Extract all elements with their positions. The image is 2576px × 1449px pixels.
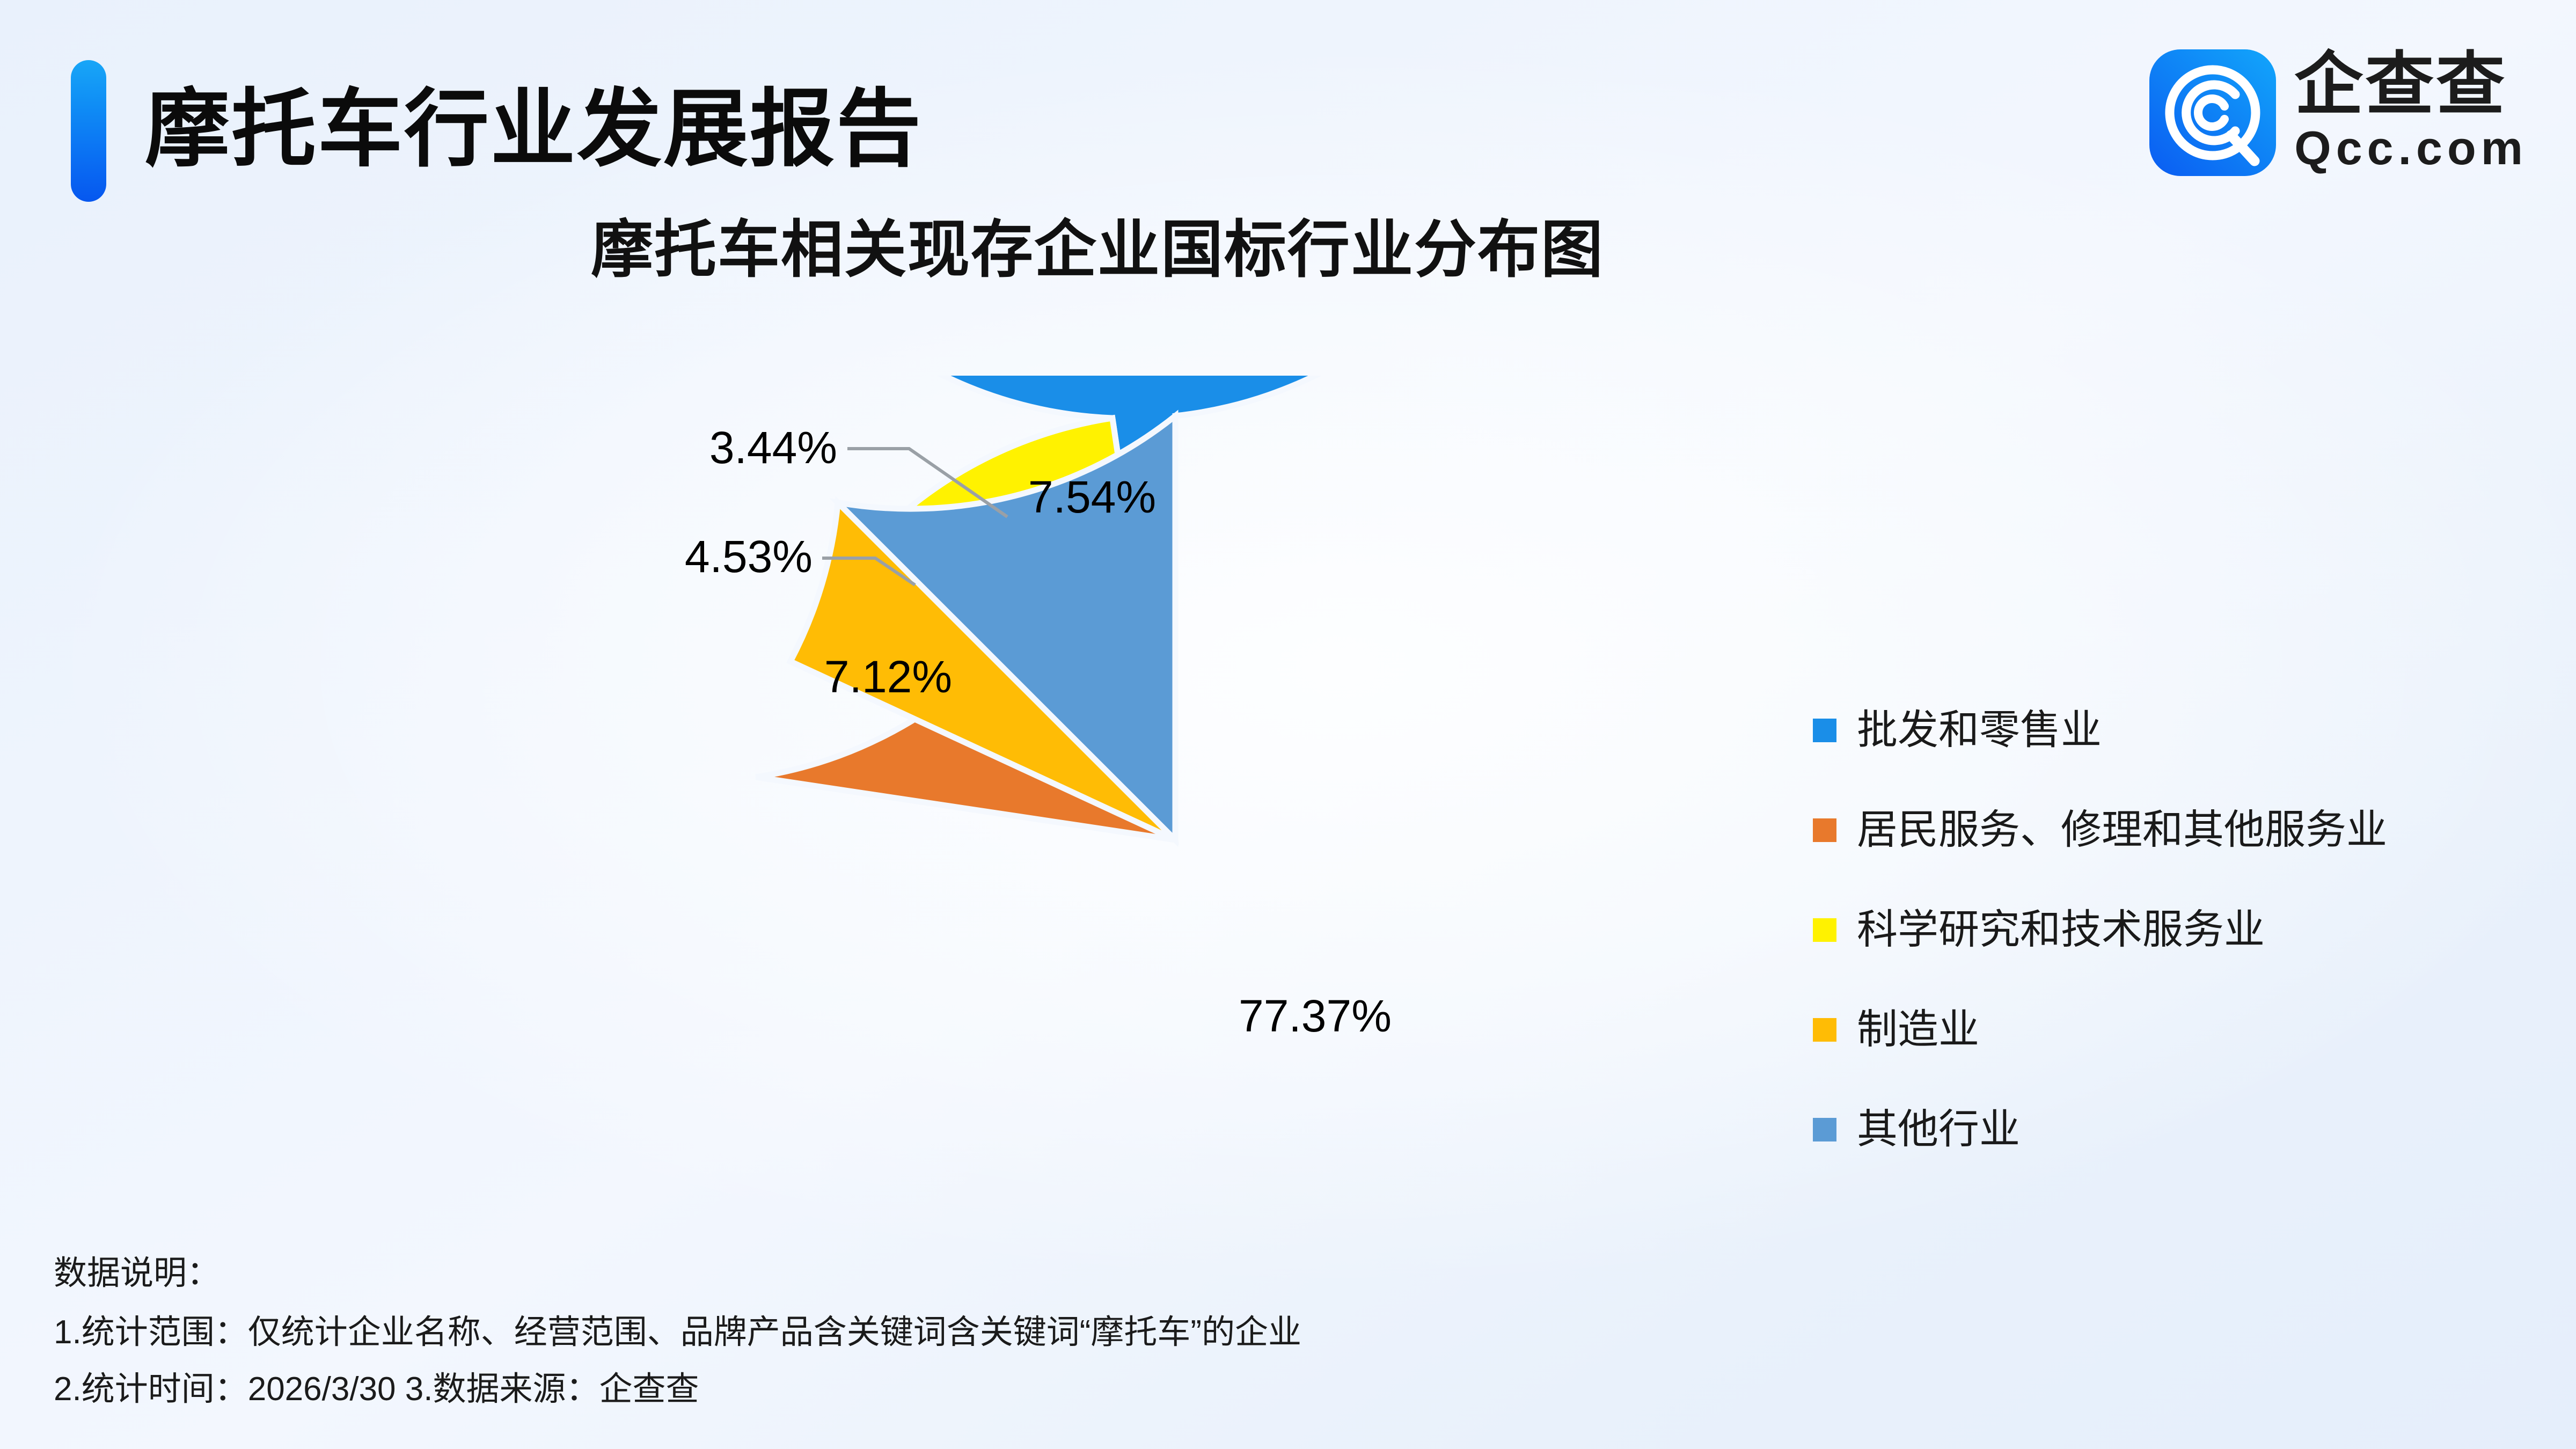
qcc-target-q-icon xyxy=(2149,49,2276,176)
brand-wordmark: 企查查 Qcc.com xyxy=(2294,49,2528,176)
legend-item-wholesale[interactable]: 批发和零售业 xyxy=(1813,680,2532,780)
legend-item-other[interactable]: 其他行业 xyxy=(1813,1080,2532,1180)
title-accent-bar xyxy=(71,60,106,202)
footnote-heading: 数据说明： xyxy=(54,1245,1986,1302)
legend-item-label: 制造业 xyxy=(1857,1005,1979,1055)
footnote-scope: 1.统计范围：仅统计企业名称、经营范围、品牌产品含关键词含关键词“摩托车”的企业 xyxy=(54,1304,1986,1361)
legend-swatch-icon xyxy=(1813,918,1836,942)
footnote-time-source: 2.统计时间：2026/3/30 3.数据来源：企查查 xyxy=(54,1361,1986,1418)
pie-callout-science-research: 4.53% xyxy=(685,531,813,582)
chart-title: 摩托车相关现存企业国标行业分布图 xyxy=(0,209,2576,290)
page-title: 摩托车行业发展报告 xyxy=(145,59,923,200)
legend-item-manufacturing[interactable]: 制造业 xyxy=(1813,980,2532,1080)
legend-item-label: 居民服务、修理和其他服务业 xyxy=(1857,806,2387,855)
pie-label-other: 7.54% xyxy=(1028,472,1156,522)
brand-logo: 企查查 Qcc.com xyxy=(2149,49,2528,176)
chart-legend: 批发和零售业 居民服务、修理和其他服务业 科学研究和技术服务业 制造业 其他行业 xyxy=(1813,680,2532,1180)
legend-item-science-research[interactable]: 科学研究和技术服务业 xyxy=(1813,880,2532,980)
pie-label-resident-services: 7.12% xyxy=(824,652,952,702)
brand-name-cn: 企查查 xyxy=(2294,49,2528,120)
footnotes: 数据说明： 1.统计范围：仅统计企业名称、经营范围、品牌产品含关键词含关键词“摩… xyxy=(54,1245,1986,1418)
legend-swatch-icon xyxy=(1813,818,1836,842)
legend-item-label: 其他行业 xyxy=(1857,1105,2020,1154)
chart-title-text: 摩托车相关现存企业国标行业分布图 xyxy=(591,215,1604,284)
legend-swatch-icon xyxy=(1813,1118,1836,1141)
legend-item-label: 科学研究和技术服务业 xyxy=(1857,905,2265,955)
pie-label-wholesale: 77.37% xyxy=(1239,991,1392,1041)
legend-item-resident-services[interactable]: 居民服务、修理和其他服务业 xyxy=(1813,780,2532,880)
legend-swatch-icon xyxy=(1813,1018,1836,1042)
pie-chart: 77.37% 7.12% 7.54% 3.44% 4.53% xyxy=(633,376,1803,1320)
pie-callout-manufacturing: 3.44% xyxy=(709,422,837,473)
legend-item-label: 批发和零售业 xyxy=(1857,706,2102,755)
brand-name-en: Qcc.com xyxy=(2294,122,2528,174)
report-page: 摩托车行业发展报告 企查查 Qcc.com 摩托车相关现存企业国标行业分布图 xyxy=(0,0,2576,1449)
legend-swatch-icon xyxy=(1813,719,1836,742)
